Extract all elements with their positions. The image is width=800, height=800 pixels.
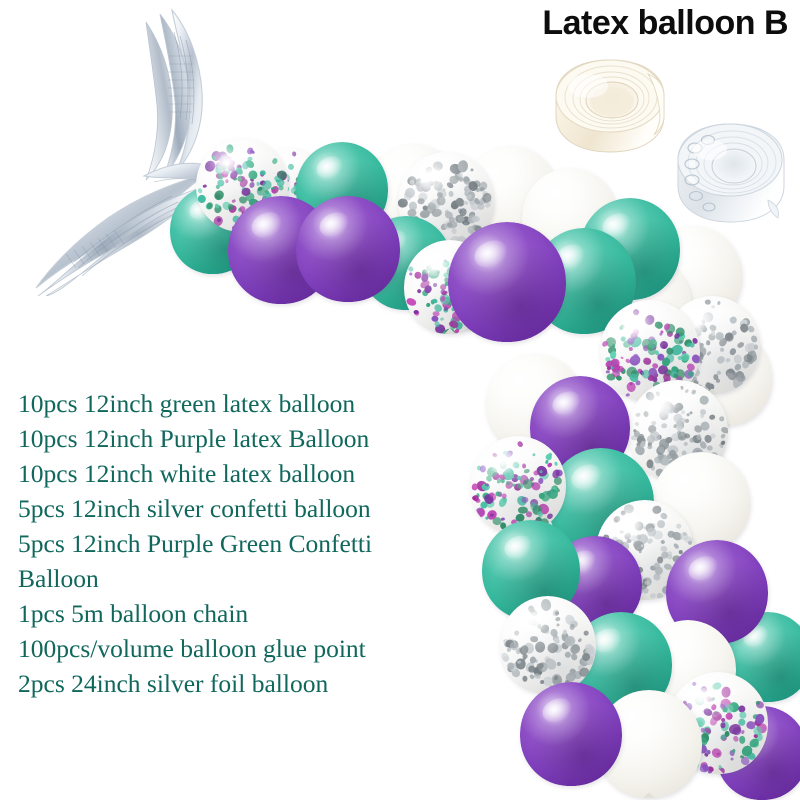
list-item: 1pcs 5m balloon chain [18,596,488,631]
list-item: 10pcs 12inch Purple latex Balloon [18,421,488,456]
product-image: Latex balloon B 10pcs 12inch green latex… [0,0,800,800]
purple-latex-balloon [448,222,566,342]
list-item: 10pcs 12inch green latex balloon [18,386,488,421]
purple-latex-balloon [296,196,400,302]
silver-confetti-balloon [500,596,596,694]
list-item: 5pcs 12inch silver confetti balloon [18,491,488,526]
page-title: Latex balloon B [542,4,788,43]
list-item: 10pcs 12inch white latex balloon [18,456,488,491]
list-item: 2pcs 24inch silver foil balloon [18,666,488,701]
list-item: 5pcs 12inch Purple Green Confetti [18,526,488,561]
balloon-chain-strip-roll-icon [672,112,790,237]
list-item: 100pcs/volume balloon glue point [18,631,488,666]
list-item: Balloon [18,561,488,596]
purple-latex-balloon [520,682,622,786]
kit-contents-list: 10pcs 12inch green latex balloon 10pcs 1… [18,386,488,701]
balloon-glue-point-roll-icon [548,50,673,170]
